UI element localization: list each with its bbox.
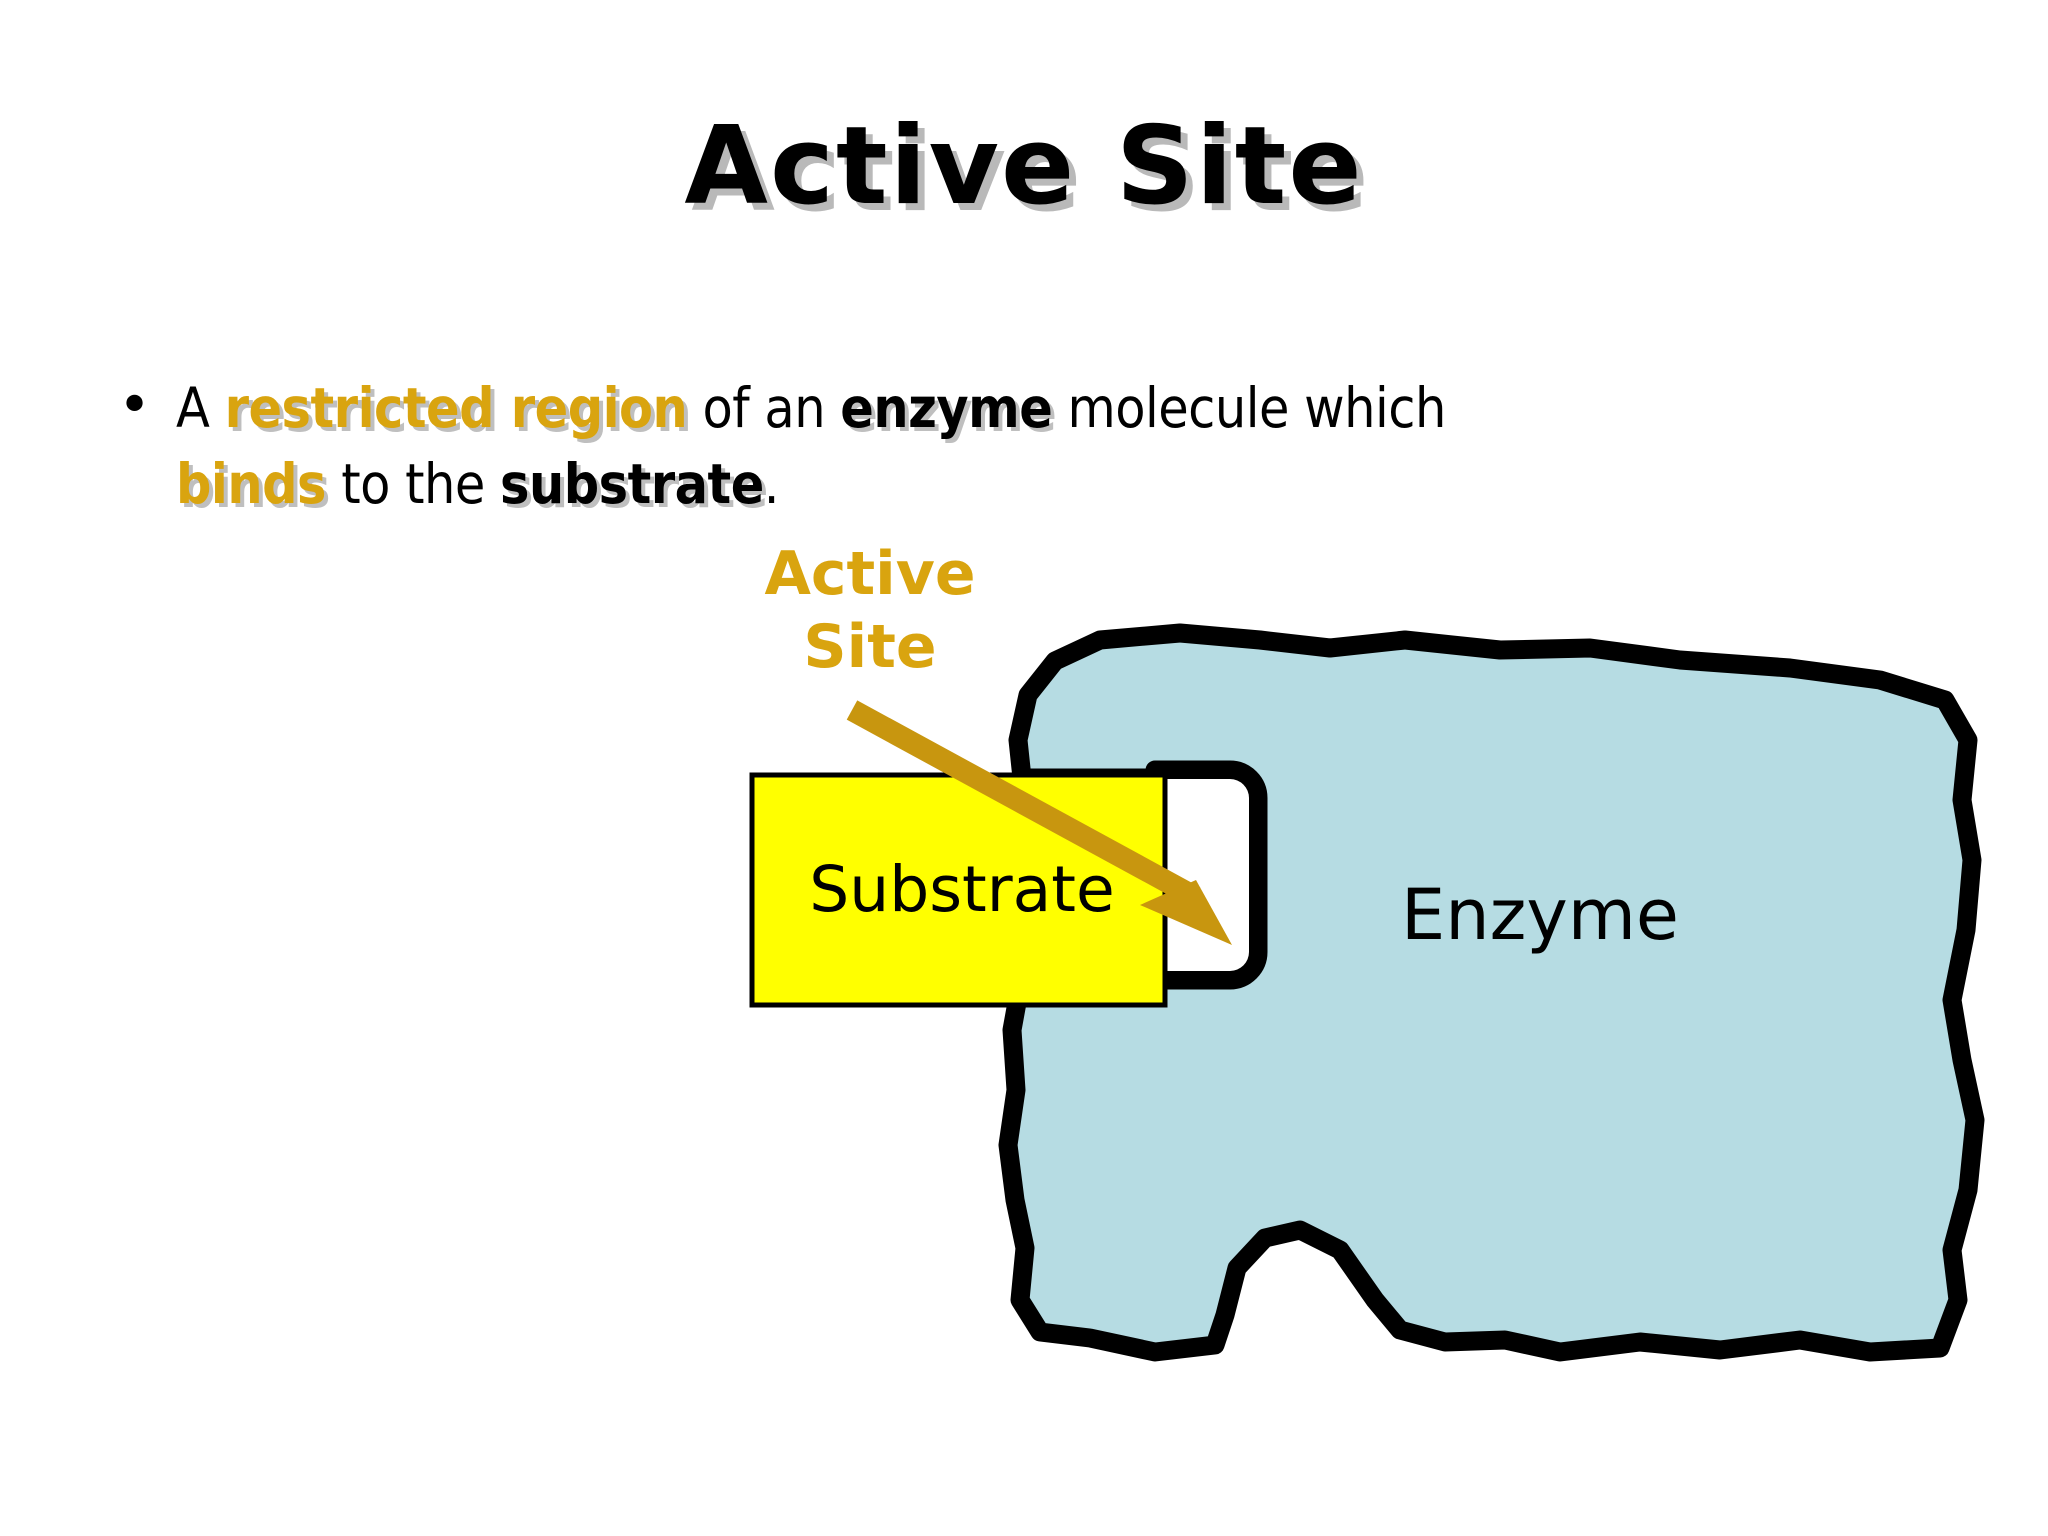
bullet-highlight-binds: binds	[176, 452, 326, 516]
bullet-marker-icon: •	[118, 370, 176, 442]
substrate-label: Substrate	[762, 858, 1162, 921]
bullet-text-block: A restricted region of an enzyme molecul…	[176, 370, 1908, 522]
page-title: Active Site	[0, 110, 2048, 223]
active-site-pocket	[1155, 779, 1249, 971]
bullet-text-part4: to the	[326, 452, 500, 516]
bullet-highlight-restricted-region: restricted region	[225, 376, 688, 440]
enzyme-blob-shape	[1008, 633, 1975, 1352]
bullet-text-part5: .	[764, 452, 779, 516]
bullet-highlight-enzyme: enzyme	[840, 376, 1052, 440]
list-item: • A restricted region of an enzyme molec…	[118, 370, 1908, 522]
bullet-text-part2: of an	[687, 376, 840, 440]
bullet-list: • A restricted region of an enzyme molec…	[118, 370, 1908, 522]
active-site-callout-label: Active Site	[700, 538, 1040, 684]
bullet-text-part1: A	[176, 376, 225, 440]
active-site-diagram	[0, 0, 2048, 1536]
bullet-text-part3: molecule which	[1052, 376, 1446, 440]
active-site-callout-line2: Site	[700, 611, 1040, 684]
active-site-callout-line1: Active	[700, 538, 1040, 611]
bullet-highlight-substrate: substrate	[500, 452, 764, 516]
enzyme-label: Enzyme	[1300, 880, 1780, 950]
